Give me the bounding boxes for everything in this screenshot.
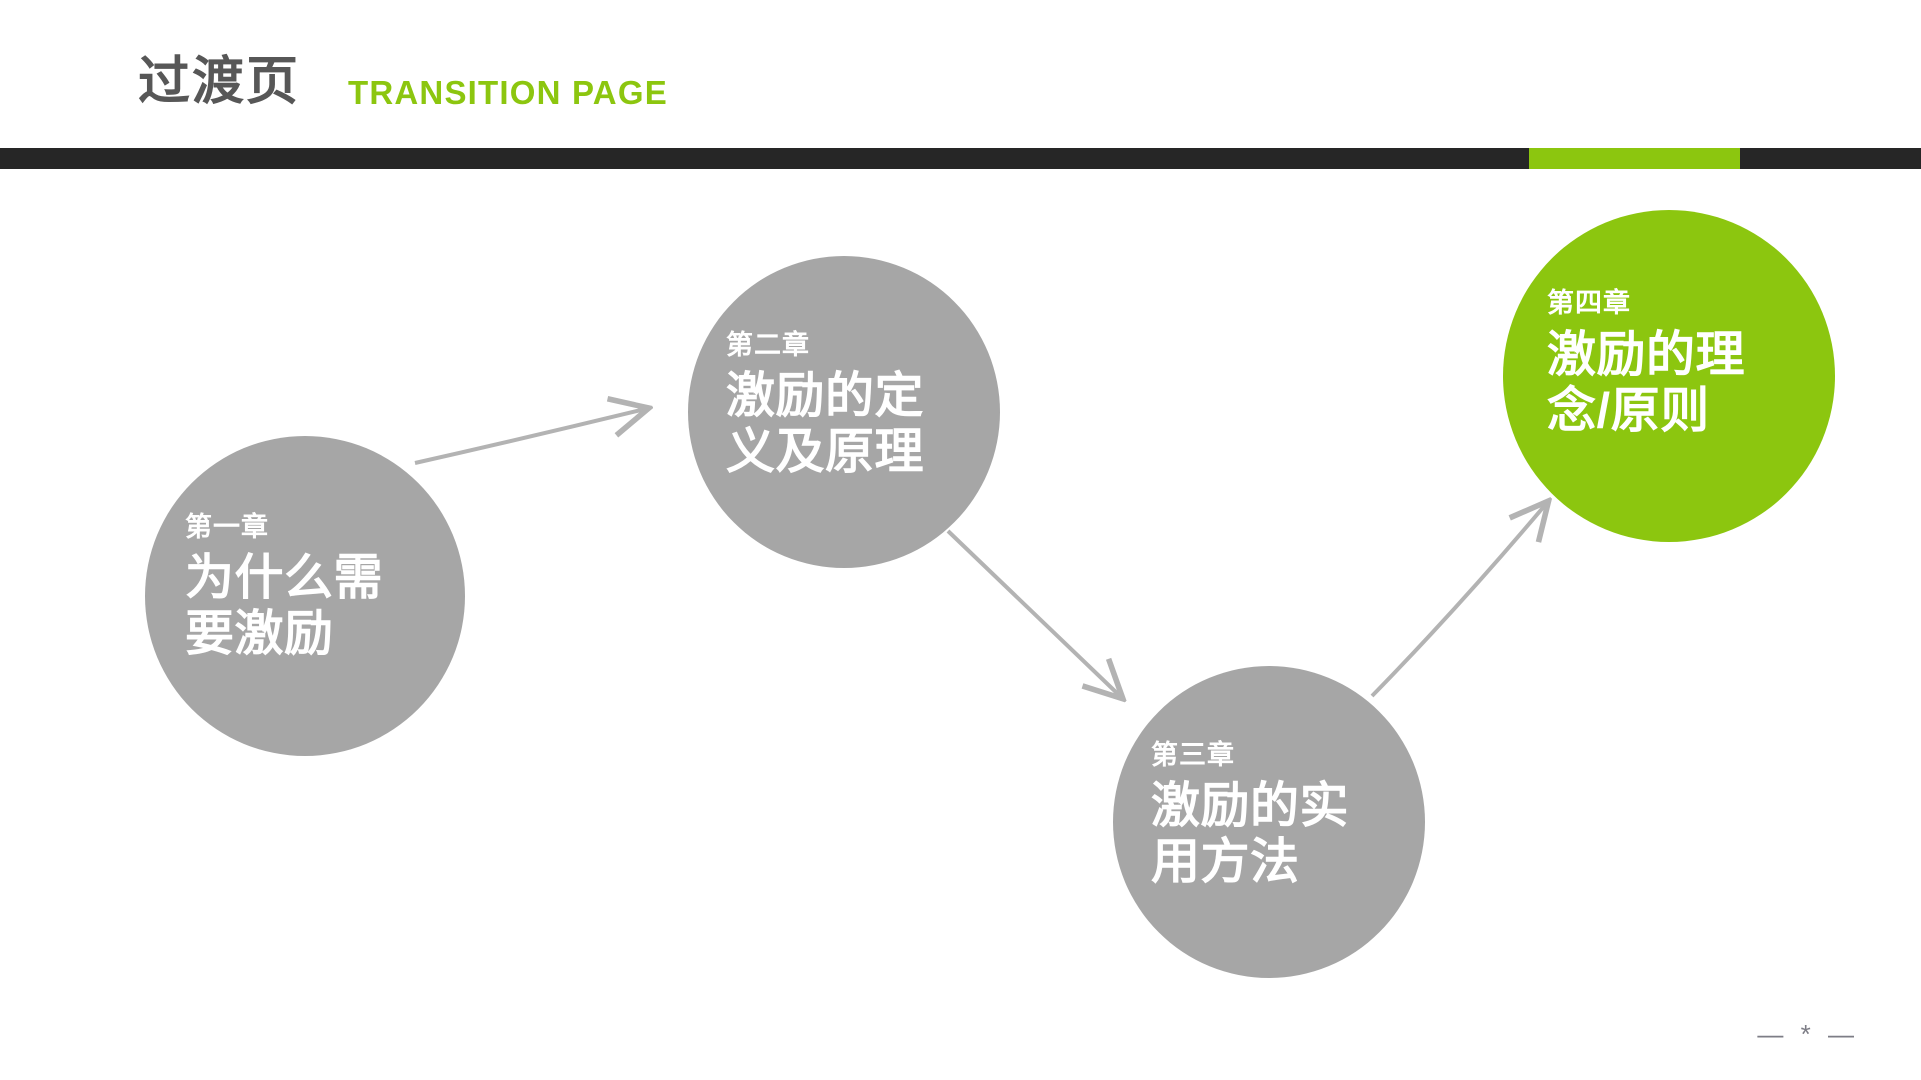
slide-header: 过渡页 TRANSITION PAGE: [0, 0, 1921, 148]
chapter-node-1-content: 第一章 为什么需 要激励: [145, 436, 465, 756]
slide-transition-page: 过渡页 TRANSITION PAGE 第一章 为什么需 要激励: [0, 0, 1921, 1080]
page-number-marker: — * —: [1757, 1021, 1859, 1047]
chapter-node-4-title-line2: 念/原则: [1547, 384, 1797, 440]
chapter-node-1[interactable]: 第一章 为什么需 要激励: [145, 436, 465, 756]
chapter-node-3-title-line1: 激励的实: [1151, 779, 1387, 835]
chapter-node-2-title-line1: 激励的定: [726, 369, 962, 425]
chapter-node-4-content: 第四章 激励的理 念/原则: [1503, 210, 1835, 542]
chapter-node-3-title-line2: 用方法: [1151, 835, 1387, 891]
page-title: 过渡页: [138, 56, 300, 108]
chapter-node-2[interactable]: 第二章 激励的定 义及原理: [688, 256, 1000, 568]
chapter-node-1-label: 第一章: [185, 514, 269, 541]
chapter-node-2-title: 激励的定 义及原理: [726, 369, 962, 481]
chapter-flow-diagram: 第一章 为什么需 要激励 第二章 激励的定 义及原理 第三章: [0, 169, 1921, 1080]
chapter-node-1-title-line2: 要激励: [185, 607, 425, 663]
chapter-node-3-title: 激励的实 用方法: [1151, 779, 1387, 891]
chapter-node-4-title-line1: 激励的理: [1547, 328, 1797, 384]
chapter-node-4-title: 激励的理 念/原则: [1547, 328, 1797, 440]
header-divider-accent: [1529, 148, 1740, 169]
chapter-node-1-title: 为什么需 要激励: [185, 551, 425, 663]
chapter-node-4[interactable]: 第四章 激励的理 念/原则: [1503, 210, 1835, 542]
chapter-node-3-label: 第三章: [1151, 742, 1235, 769]
chapter-node-3-content: 第三章 激励的实 用方法: [1113, 666, 1425, 978]
chapter-node-1-title-line1: 为什么需: [185, 551, 425, 607]
chapter-node-2-title-line2: 义及原理: [726, 425, 962, 481]
page-subtitle: TRANSITION PAGE: [348, 76, 668, 109]
chapter-node-3[interactable]: 第三章 激励的实 用方法: [1113, 666, 1425, 978]
chapter-node-2-label: 第二章: [726, 332, 810, 359]
chapter-node-2-content: 第二章 激励的定 义及原理: [688, 256, 1000, 568]
chapter-node-4-label: 第四章: [1547, 290, 1631, 317]
